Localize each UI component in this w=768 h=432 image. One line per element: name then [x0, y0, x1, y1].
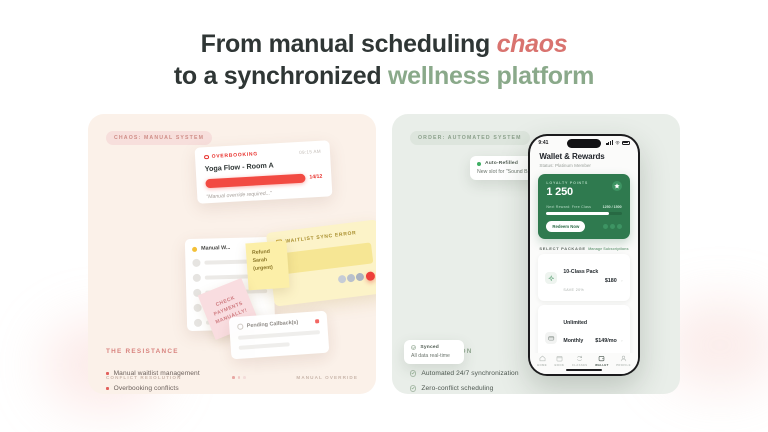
avatar — [355, 273, 364, 282]
slide-canvas: From manual scheduling chaos to a synchr… — [0, 0, 768, 432]
chaos-panel-tag: CHAOS: MANUAL SYSTEM — [106, 131, 212, 145]
tab-label: PROFILE — [616, 363, 631, 367]
waitlist-error-label: WAITLIST SYNC ERROR — [285, 230, 357, 245]
cellular-signal-icon — [606, 140, 612, 145]
placeholder-line — [239, 342, 290, 350]
tab-wallet[interactable]: WALLET — [595, 355, 609, 368]
footer-label-left: CONFLICT RESOLUTION — [106, 375, 182, 380]
synced-sub: All data real-time — [411, 353, 457, 359]
package-price: $149/mo — [595, 338, 617, 344]
package-name: 10-Class Pack — [563, 269, 598, 275]
list-item-label: Zero-conflict scheduling — [421, 385, 493, 392]
footer-label-right: MANUAL OVERRIDE — [296, 375, 358, 380]
package-price-group: $180 › — [605, 269, 623, 287]
auto-refilled-label: Auto-Refilled — [485, 161, 518, 166]
page-title: From manual scheduling chaos to a synchr… — [0, 28, 768, 92]
synced-header: Synced — [411, 345, 457, 350]
avatar — [337, 275, 346, 284]
star-badge-icon — [612, 181, 622, 191]
next-reward-value: 1250 / 1500 — [603, 205, 622, 209]
avatar — [194, 304, 202, 312]
phone-header: Wallet & Rewards Status: Platinum Member — [530, 149, 637, 168]
bullet-dot-icon — [106, 387, 109, 390]
phone-mockup: 9:41 Wallet & Rewards Status: Platinum M… — [528, 134, 640, 376]
package-name: Unlimited Monthly — [563, 320, 587, 344]
reward-progress-fill — [546, 212, 608, 215]
tab-label: BOOK — [555, 363, 565, 367]
wallet-icon — [598, 355, 605, 362]
footer-dots-icon — [232, 376, 246, 379]
wallet-title: Wallet & Rewards — [539, 152, 628, 161]
chevron-right-icon: › — [621, 278, 622, 283]
solution-list: Automated 24/7 synchronization Zero-conf… — [410, 362, 519, 394]
order-panel: ORDER: AUTOMATED SYSTEM THE SOLUTION Aut… — [392, 114, 680, 394]
check-circle-icon — [410, 370, 416, 376]
avatar-stack — [281, 271, 375, 292]
avatar — [192, 259, 200, 267]
sparkle-icon — [545, 272, 557, 284]
list-item: Zero-conflict scheduling — [410, 385, 519, 392]
check-circle-icon — [410, 385, 416, 391]
package-price: $180 — [605, 278, 617, 284]
overbooking-card[interactable]: OVERBOOKING 09:15 AM Yoga Flow - Room A … — [195, 140, 333, 203]
overbooking-count: 14/12 — [309, 174, 322, 181]
select-package-section-header: SELECT PACKAGE Manage Subscriptions — [530, 239, 637, 254]
reward-chips — [603, 224, 622, 229]
avatar — [346, 274, 355, 283]
home-icon — [539, 355, 546, 362]
package-meta: SAVE 20% — [563, 288, 584, 292]
next-reward-label: Next Reward: Free Class — [546, 205, 591, 209]
tab-classes[interactable]: CLASSES — [572, 355, 588, 368]
synced-label: Synced — [420, 345, 439, 350]
tab-label: HOME — [537, 363, 547, 367]
status-dot-icon — [192, 246, 197, 251]
tab-profile[interactable]: PROFILE — [616, 355, 631, 368]
loyalty-points-card[interactable]: LOYALTY POINTS 1 250 Next Reward: Free C… — [538, 174, 629, 239]
overbooking-label: OVERBOOKING — [212, 151, 259, 160]
package-text: 10-Class Pack SAVE 20% — [563, 260, 598, 296]
pending-callbacks-card[interactable]: Pending Callback(s) — [229, 311, 330, 360]
tab-book[interactable]: BOOK — [555, 355, 565, 368]
loyalty-points-label: LOYALTY POINTS — [546, 181, 621, 185]
reward-progress-track — [546, 212, 621, 215]
reward-progress-labels: Next Reward: Free Class 1250 / 1500 — [546, 205, 621, 209]
calendar-icon — [556, 355, 563, 362]
list-item-label: Automated 24/7 synchronization — [421, 370, 518, 377]
list-item-label: Overbooking conflicts — [114, 385, 179, 392]
check-circle-icon — [411, 345, 416, 350]
status-bar: 9:41 — [530, 136, 637, 149]
manage-subscriptions-link[interactable]: Manage Subscriptions — [588, 247, 629, 251]
home-indicator — [566, 369, 602, 371]
alert-badge-icon — [314, 319, 319, 324]
status-bar-indicators — [606, 140, 629, 145]
headline-line2-plain: to a synchronized — [174, 62, 388, 90]
chaos-panel: CHAOS: MANUAL SYSTEM OVERBOOKING 09:15 A… — [88, 114, 376, 394]
alert-circle-icon — [204, 155, 209, 160]
order-panel-tag: ORDER: AUTOMATED SYSTEM — [410, 131, 530, 145]
tab-home[interactable]: HOME — [537, 355, 547, 368]
phone-screen: 9:41 Wallet & Rewards Status: Platinum M… — [530, 136, 637, 373]
loyalty-points-value: 1 250 — [546, 186, 621, 198]
avatar — [194, 319, 202, 327]
overbooking-label-group: OVERBOOKING — [204, 151, 258, 160]
person-icon — [620, 355, 627, 362]
list-item: Automated 24/7 synchronization — [410, 370, 519, 377]
resistance-heading: THE RESISTANCE — [106, 348, 179, 355]
pending-callbacks-header: Pending Callback(s) — [237, 318, 319, 330]
manual-waitlist-title: Manual W... — [201, 245, 231, 252]
headline-wellness-words: wellness platform — [388, 62, 594, 90]
avatar-alert — [365, 271, 376, 282]
overbooking-time: 09:15 AM — [299, 148, 321, 154]
wifi-icon — [615, 141, 620, 145]
headline-line1-plain: From manual scheduling — [201, 30, 497, 58]
placeholder-line — [205, 274, 249, 279]
pending-callbacks-title: Pending Callback(s) — [247, 320, 299, 330]
success-dot-icon — [477, 162, 481, 166]
dynamic-island — [567, 139, 601, 149]
refresh-icon — [576, 355, 583, 362]
battery-icon — [622, 141, 630, 145]
sticky-note-refund[interactable]: Refund Sarah (urgent) — [245, 241, 289, 291]
clock-icon — [237, 324, 243, 330]
placeholder-line — [238, 330, 320, 340]
overbooking-capacity-bar: 14/12 — [205, 173, 322, 188]
wallet-status: Status: Platinum Member — [539, 163, 628, 168]
redeem-now-button[interactable]: Redeem Now — [546, 221, 585, 232]
select-package-label: SELECT PACKAGE — [539, 246, 585, 251]
overbooking-title: Yoga Flow - Room A — [204, 158, 321, 174]
overbooking-note: "Manual override required..." — [206, 187, 323, 200]
capacity-bar-fill — [205, 174, 305, 188]
tab-label: CLASSES — [572, 363, 588, 367]
package-row-10-class-pack[interactable]: 10-Class Pack SAVE 20% $180 › — [538, 254, 629, 301]
chaos-panel-footer: CONFLICT RESOLUTION MANUAL OVERRIDE — [106, 375, 358, 380]
package-price-group: $149/mo › — [595, 329, 622, 347]
avatar — [193, 274, 201, 282]
status-bar-time: 9:41 — [538, 140, 548, 146]
loyalty-card-footer: Redeem Now — [546, 221, 621, 232]
tab-label: WALLET — [595, 363, 609, 367]
list-item: Overbooking conflicts — [106, 385, 200, 392]
placeholder-block — [277, 242, 373, 274]
synced-notification[interactable]: Synced All data real-time — [404, 340, 464, 364]
chevron-right-icon: › — [621, 338, 622, 343]
headline-chaos-word: chaos — [497, 30, 568, 58]
card-icon — [545, 332, 557, 344]
